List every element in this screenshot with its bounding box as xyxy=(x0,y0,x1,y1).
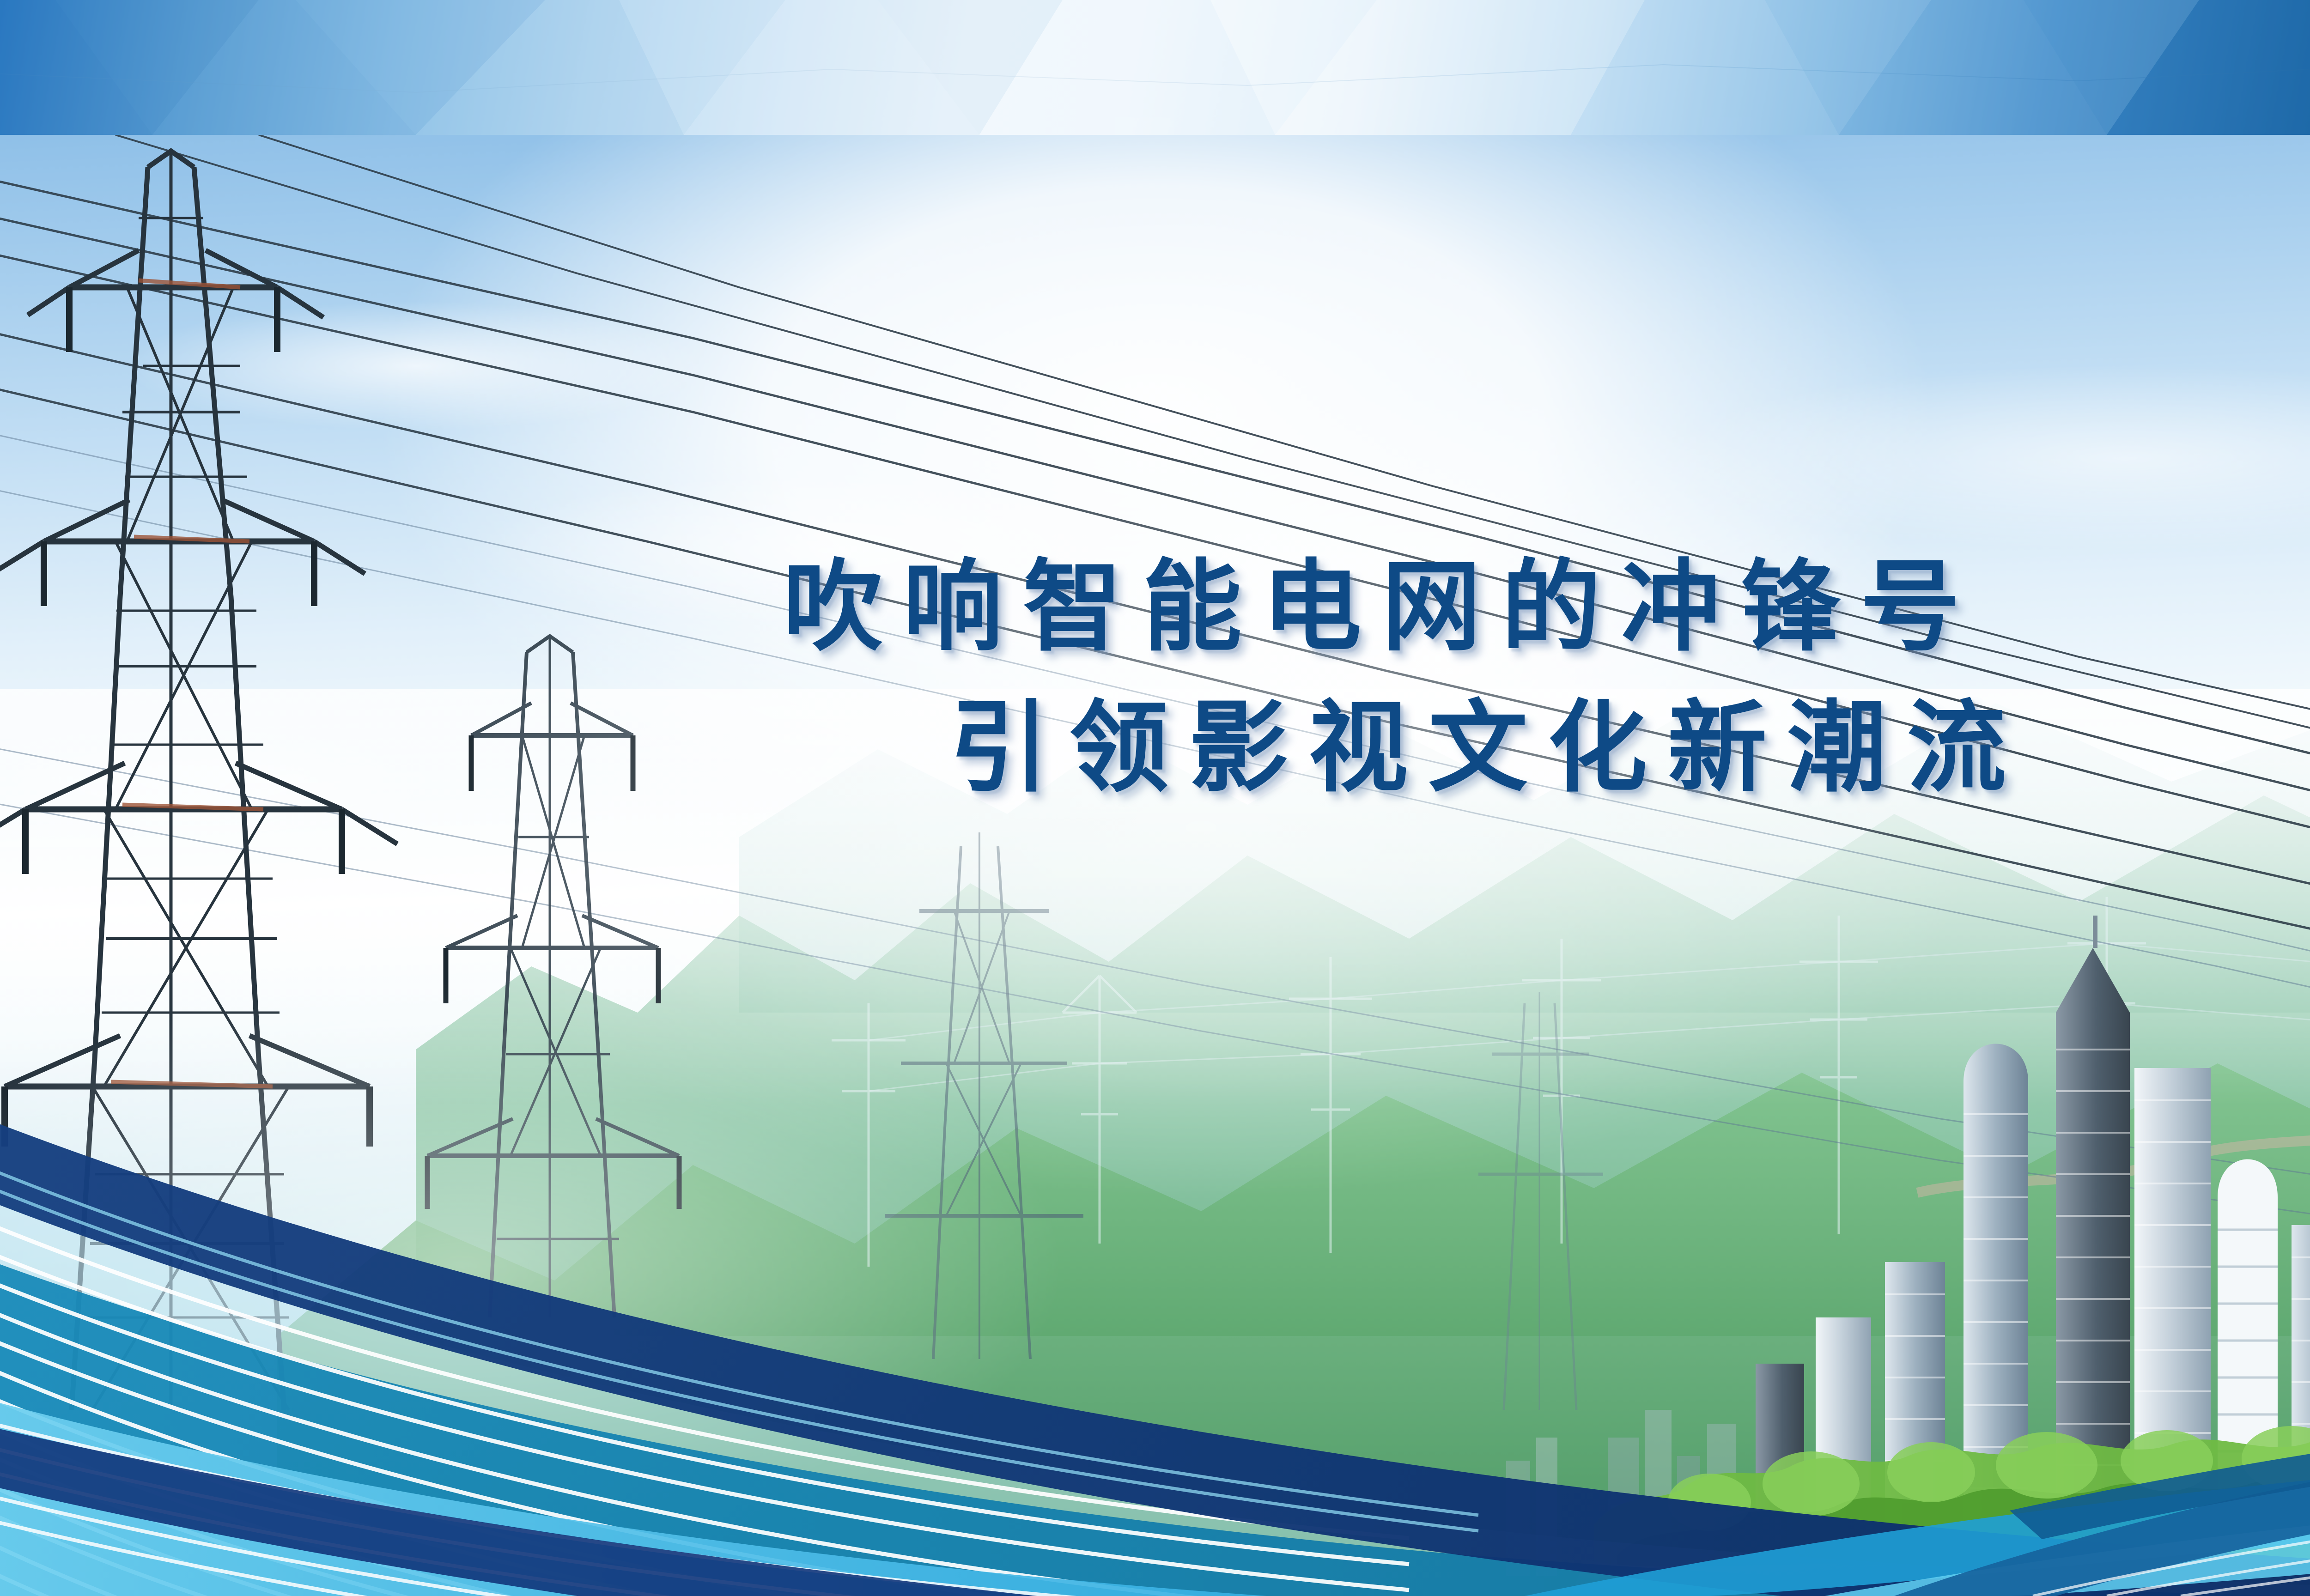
low-poly-header-band xyxy=(0,0,2310,135)
foreground-haze xyxy=(0,135,2310,1596)
poster-canvas: 吹响智能电网的冲锋号 引领影视文化新潮流 xyxy=(0,0,2310,1596)
header-polygons xyxy=(0,0,2310,135)
photo-montage xyxy=(0,135,2310,1596)
